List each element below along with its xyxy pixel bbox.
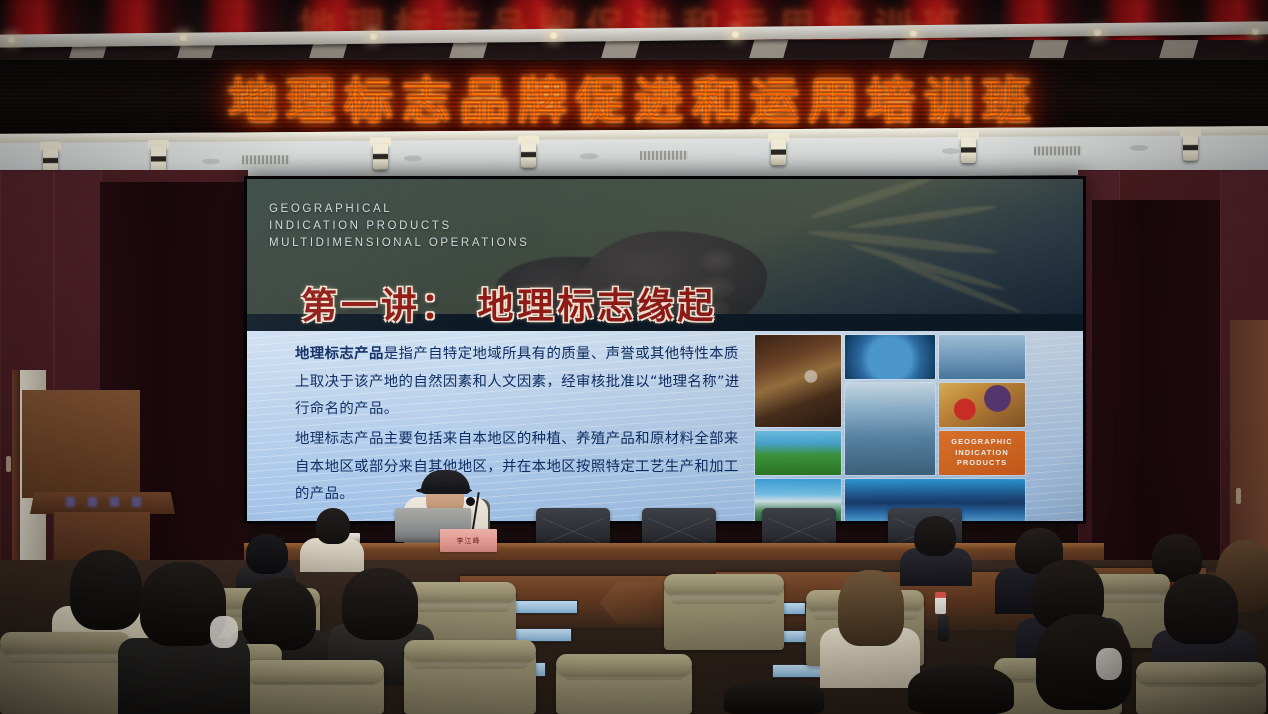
ceiling-spotlight — [151, 146, 166, 172]
projection-screen: GEOGRAPHICAL INDICATION PRODUCTS MULTIDI… — [247, 179, 1083, 521]
ceiling-recessed-light — [1130, 145, 1148, 151]
podium-backing-panel — [22, 390, 140, 498]
face-mask — [210, 616, 238, 648]
ceiling-spotlight — [961, 137, 976, 163]
door-handle[interactable] — [6, 456, 11, 472]
dark-curtain — [1092, 200, 1220, 590]
head-table-chair[interactable] — [762, 508, 836, 548]
audience-person — [724, 680, 824, 714]
slide-header-line-1: GEOGRAPHICAL — [269, 201, 529, 218]
collage-tile-fishing-boats — [939, 335, 1025, 379]
audience-person — [300, 508, 364, 568]
ceiling-downlight — [1092, 29, 1103, 36]
ceiling-spotlight — [771, 139, 786, 165]
person-hair — [724, 680, 824, 714]
person-hair — [316, 508, 350, 544]
projection-screen-frame: GEOGRAPHICAL INDICATION PRODUCTS MULTIDI… — [244, 176, 1086, 524]
door-handle[interactable] — [1236, 488, 1241, 504]
person-hair — [342, 568, 418, 640]
led-banner-text: 地理标志品牌促进和运用培训班 — [228, 62, 1040, 133]
audience-chair-headrest — [404, 640, 536, 661]
person-hair — [246, 534, 288, 574]
audience-chair-headrest — [664, 574, 784, 594]
ceiling-recessed-light — [202, 159, 220, 165]
ceiling-downlight — [1250, 28, 1261, 35]
lectern-engraved-text — [44, 497, 162, 507]
audience-chair-headrest — [1136, 662, 1266, 683]
desk-tablet-monitor[interactable] — [512, 600, 578, 614]
person-hair — [914, 516, 956, 556]
ceiling-recessed-light — [404, 155, 422, 161]
gi-logo-line-3: PRODUCTS — [951, 458, 1013, 469]
audience-chair-headrest — [556, 654, 692, 675]
right-wall — [1078, 170, 1268, 590]
ceiling-downlight — [908, 30, 919, 37]
slide-body-keyword: 地理标志产品 — [295, 346, 384, 362]
ceiling-downlight — [178, 34, 189, 41]
led-scrolling-banner: 地理标志品牌促进和运用培训班 — [0, 58, 1268, 136]
audience-person — [1028, 614, 1148, 714]
gi-logo-line-2: INDICATION — [951, 448, 1013, 459]
ceiling-spotlight — [521, 142, 536, 168]
ceiling-air-vent — [1034, 146, 1082, 155]
lectern-top — [30, 492, 175, 514]
presenter-cap — [421, 470, 470, 494]
slide-chapter-title-row: 第一讲： 地理标志缘起 — [247, 275, 1083, 331]
collage-tile-gi-logo-card: GEOGRAPHIC INDICATION PRODUCTS — [939, 431, 1025, 475]
collage-tile-green-leaves — [755, 431, 841, 475]
ceiling-air-vent — [640, 151, 688, 160]
collage-tile-fresh-fruit-basket — [939, 383, 1025, 427]
slide-header-line-3: MULTIDIMENSIONAL OPERATIONS — [269, 235, 529, 252]
desk-tablet-monitor[interactable] — [772, 664, 824, 678]
collage-tile-earth-globe — [845, 335, 935, 379]
presenter-nameplate: 李江峰 — [440, 529, 497, 552]
microphone-head — [466, 497, 475, 506]
gi-logo-line-1: GEOGRAPHIC — [951, 437, 1013, 448]
slide-body-area: 地理标志产品是指产自特定地域所具有的质量、声誉或其他特性本质上取决于该产地的自然… — [247, 331, 1083, 521]
slide-body-text: 地理标志产品是指产自特定地域所具有的质量、声誉或其他特性本质上取决于该产地的自然… — [295, 341, 750, 509]
person-hair — [1164, 574, 1238, 644]
collage-tile-wine-barrel-grapes — [755, 335, 841, 427]
ceiling-downlight — [548, 32, 559, 39]
audience-chair-headrest — [244, 660, 384, 682]
water-bottle — [935, 592, 946, 614]
audience-chair-headrest — [0, 632, 130, 653]
person-hair — [838, 570, 904, 646]
slide-chapter-title: 第一讲： 地理标志缘起 — [301, 277, 718, 329]
person-hair — [242, 578, 316, 650]
collage-tile-wooden-pier-lake — [845, 383, 935, 475]
ceiling-recessed-light — [580, 153, 598, 159]
ceiling-air-vent — [242, 155, 290, 164]
slide-photo-collage: GEOGRAPHIC INDICATION PRODUCTS — [755, 335, 1027, 515]
audience-person — [118, 562, 250, 714]
conference-hall-photo: 地理标志品牌促进和运用培训班 地理标志品牌促进和运用培训班 — [0, 0, 1268, 714]
ceiling-downlight — [730, 31, 741, 38]
gi-logo-text: GEOGRAPHIC INDICATION PRODUCTS — [951, 437, 1013, 469]
slide-body-paragraph-2: 地理标志产品主要包括来自本地区的种植、养殖产品和原材料全部来自本地区或部分来自其… — [295, 426, 750, 509]
ceiling-spotlight — [1183, 135, 1198, 161]
ceiling-spotlight — [373, 144, 388, 170]
presenter-nameplate-text: 李江峰 — [457, 536, 481, 546]
ceiling-downlight — [6, 36, 17, 43]
head-table-surface — [244, 543, 1104, 550]
ceiling-recessed-light — [942, 148, 960, 154]
person-shoulders — [118, 638, 250, 714]
audience-person — [908, 664, 1014, 714]
audience-person — [820, 570, 920, 682]
thermos-tumbler — [938, 615, 949, 641]
person-hair — [908, 664, 1014, 714]
hair-clip — [1096, 648, 1122, 680]
door-frame — [12, 370, 20, 590]
head-table-chair[interactable] — [536, 508, 610, 548]
slide-header-line-2: INDICATION PRODUCTS — [269, 218, 529, 235]
slide-header-block: GEOGRAPHICAL INDICATION PRODUCTS MULTIDI… — [269, 201, 529, 252]
head-table-chair[interactable] — [642, 508, 716, 548]
ceiling-downlight — [368, 33, 379, 40]
